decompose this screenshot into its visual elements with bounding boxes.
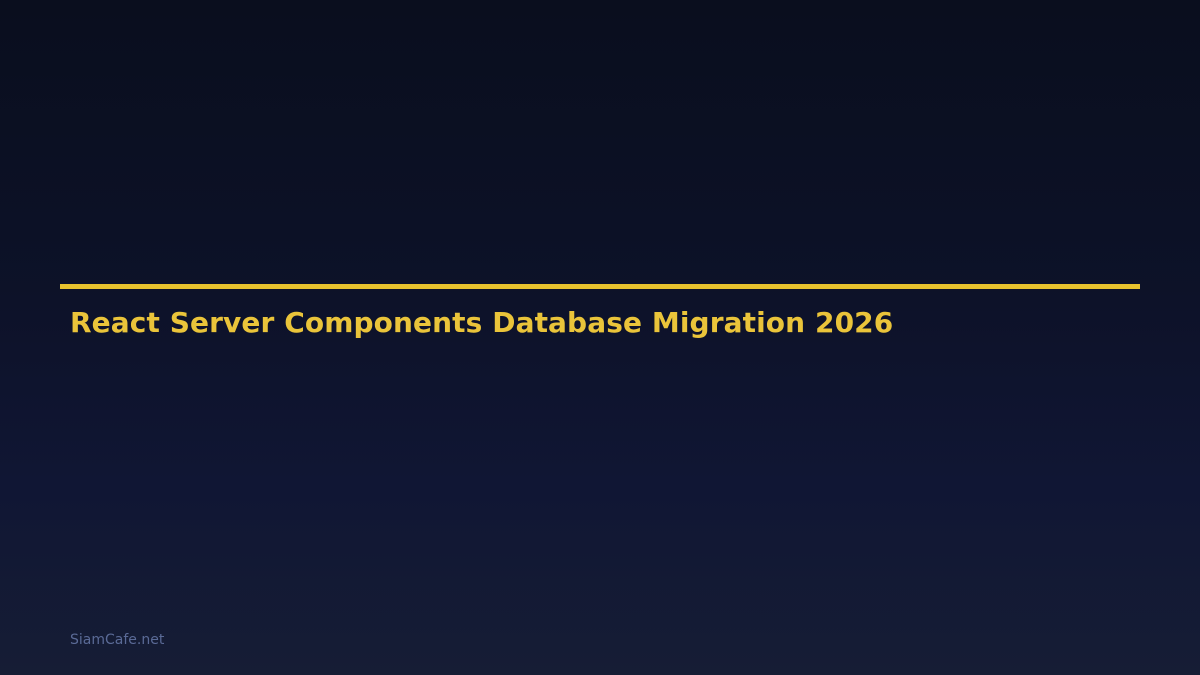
- footer-site-label: SiamCafe.net: [70, 631, 164, 649]
- page-title: React Server Components Database Migrati…: [70, 305, 893, 341]
- title-accent-bar: [60, 284, 1140, 289]
- title-slide: React Server Components Database Migrati…: [0, 0, 1200, 675]
